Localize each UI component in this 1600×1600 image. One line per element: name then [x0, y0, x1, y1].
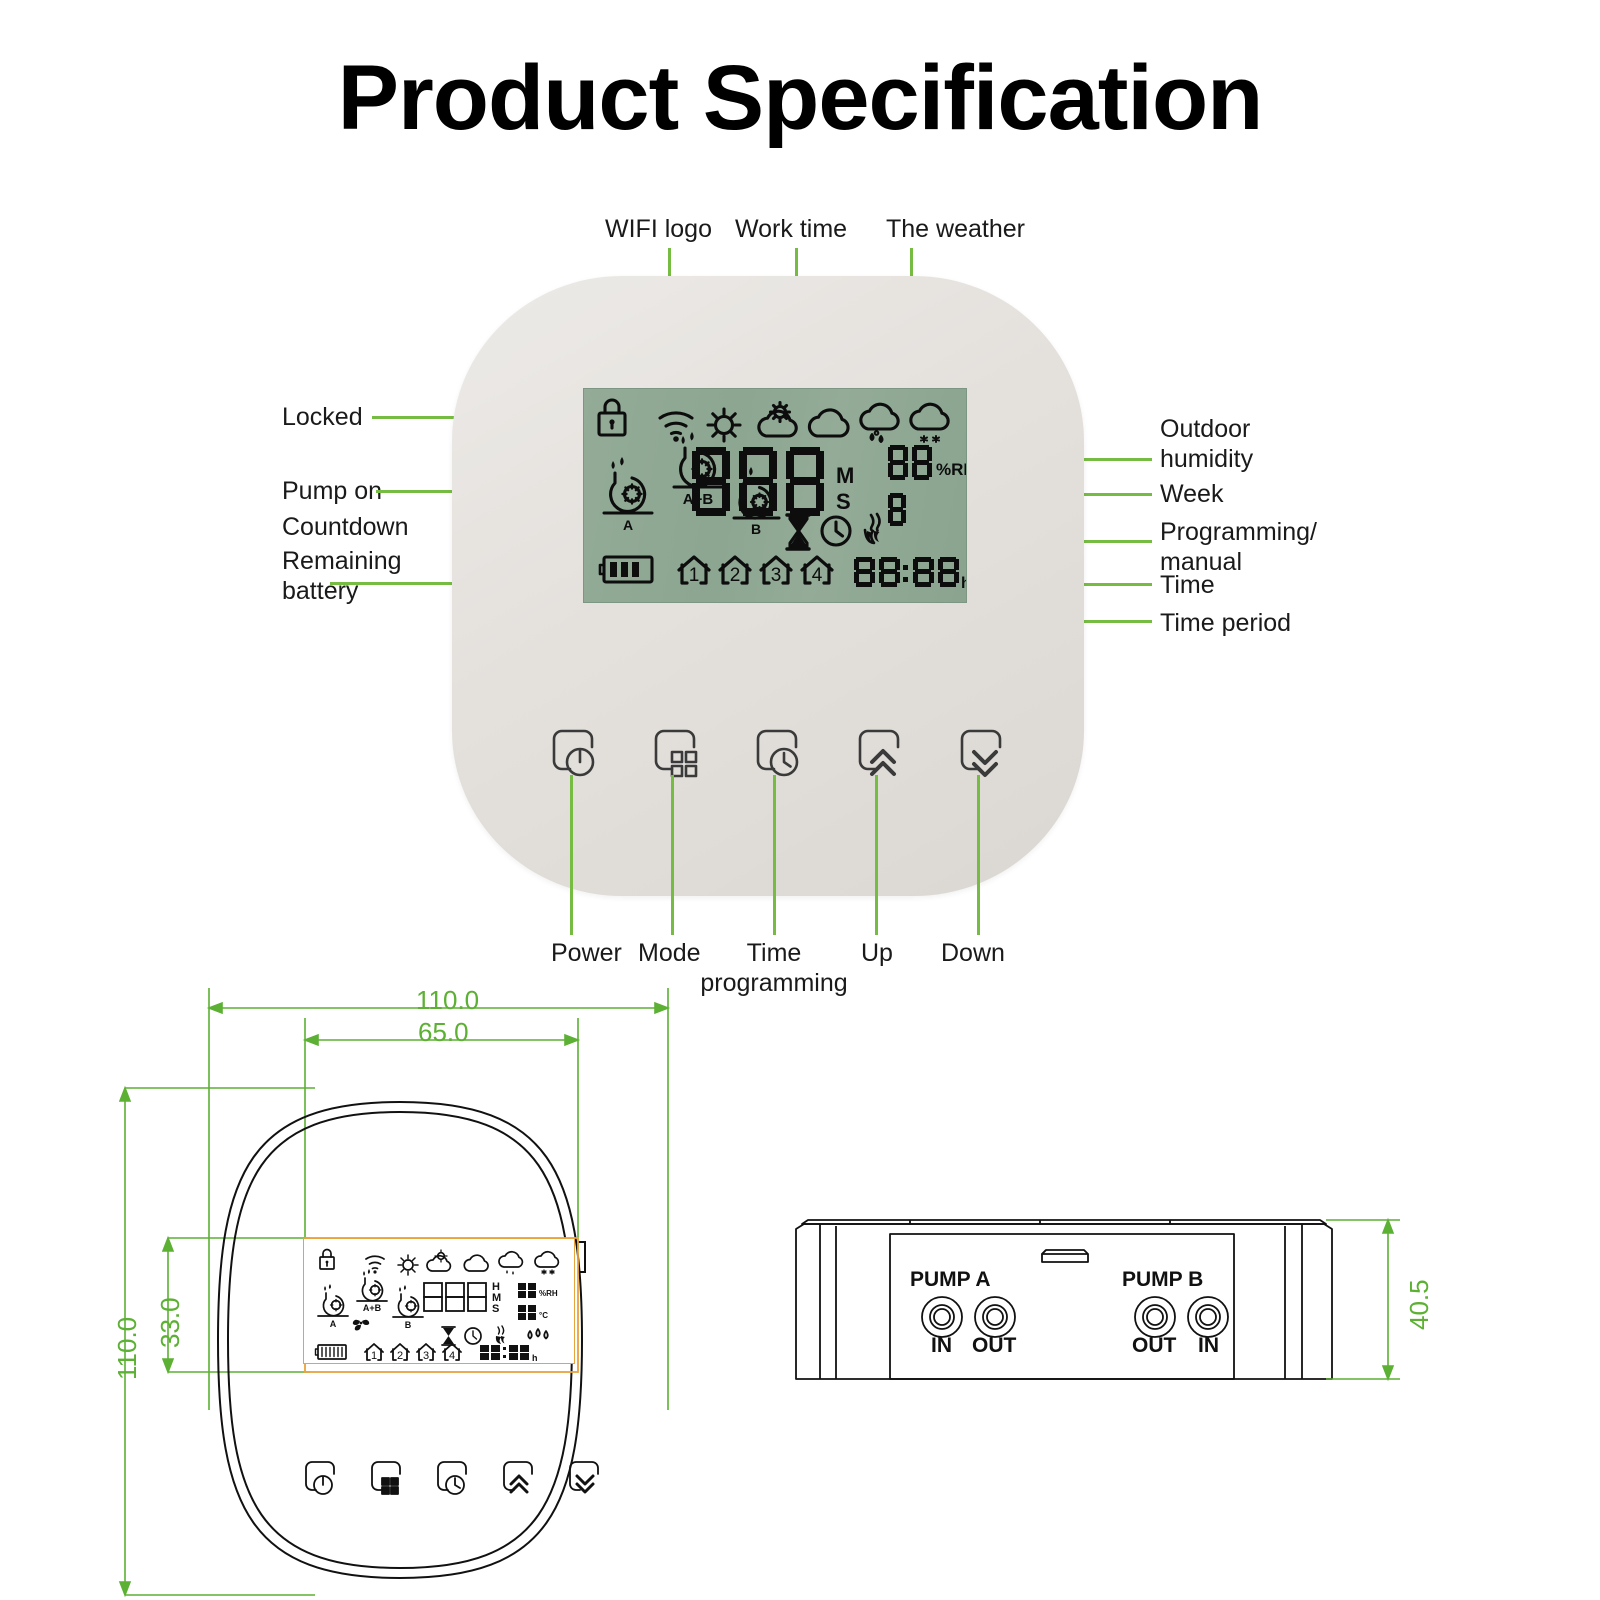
callout-countdown: Countdown: [282, 512, 408, 542]
drawing-up-button: [504, 1462, 532, 1492]
callout-time: Time: [1160, 570, 1215, 600]
house-4-number: 4: [812, 565, 823, 586]
mini-temp-digits: [518, 1305, 536, 1320]
up-button[interactable]: [860, 731, 898, 774]
dim-side-height: 40.5: [1404, 1279, 1435, 1330]
callout-work-time: Work time: [735, 214, 847, 244]
mini-rain-icon: [499, 1252, 522, 1275]
svg-text:B: B: [405, 1320, 412, 1330]
mini-temp-unit: °C: [539, 1311, 548, 1320]
unit-minutes: M: [836, 463, 854, 488]
flame-icon: [865, 514, 880, 543]
svg-text:2: 2: [397, 1350, 403, 1362]
dim-lcd-height: 33.0: [155, 1297, 186, 1348]
page-title: Product Specification: [0, 46, 1600, 151]
mini-fan-icon: [353, 1320, 369, 1331]
callout-programming-manual: Programming/ manual: [1160, 517, 1317, 577]
button-label-down: Down: [941, 938, 1005, 968]
mini-sun-cloud-icon: [427, 1250, 450, 1271]
dim-front-height: 110.0: [112, 1317, 143, 1380]
pump-a-icon: [604, 457, 652, 513]
mini-cloud-icon: [464, 1255, 488, 1271]
button-row: [520, 714, 1020, 794]
pump-b-label: B: [751, 521, 761, 537]
house-3-number: 3: [771, 565, 782, 586]
mini-humidity-unit: %RH: [539, 1289, 558, 1298]
mini-time-digits: [480, 1345, 529, 1360]
pump-b-right-label: IN: [1198, 1334, 1219, 1358]
mini-flame-icon: [496, 1326, 505, 1344]
svg-text:A+B: A+B: [363, 1303, 382, 1313]
pump-a-ports: [922, 1297, 1015, 1337]
drawing-time-button: [438, 1462, 466, 1494]
mini-waterdrops-icon: [528, 1329, 548, 1339]
leader-up: [875, 775, 878, 935]
svg-text:1: 1: [371, 1350, 377, 1362]
clock-icon: [822, 517, 850, 545]
mini-lock-icon: [320, 1250, 334, 1270]
svg-text:A: A: [330, 1319, 337, 1329]
callout-locked: Locked: [282, 402, 363, 432]
dim-lcd-width: 65.0: [418, 1017, 469, 1048]
mini-snow-icon: [535, 1252, 558, 1274]
snow-icon: [911, 404, 948, 442]
button-label-up: Up: [861, 938, 893, 968]
mini-pump-ab-icon: [357, 1269, 387, 1301]
pump-a-right-label: OUT: [972, 1334, 1016, 1358]
sun-icon: [708, 409, 740, 441]
pump-a-title: PUMP A: [910, 1268, 991, 1292]
leader-power: [570, 775, 573, 935]
mini-hourglass-icon: [442, 1327, 455, 1345]
button-label-mode: Mode: [638, 938, 701, 968]
dim-front-width: 110.0: [416, 985, 479, 1016]
house-2-number: 2: [730, 565, 741, 586]
chevron-up-icon: [872, 751, 894, 774]
mini-pump-b-icon: [393, 1285, 423, 1317]
drawing-down-button: [570, 1462, 598, 1492]
hourglass-icon: [787, 515, 809, 549]
cloud-icon: [809, 410, 848, 436]
callout-remaining-battery: Remaining battery: [282, 546, 402, 606]
button-label-time-programming: Time programming: [694, 938, 854, 998]
lcd-mini-screen: A A+B B: [303, 1238, 575, 1364]
battery-icon: [600, 557, 652, 582]
pump-b-ports: [1135, 1297, 1228, 1337]
leader-mode: [671, 775, 674, 935]
unit-seconds: S: [836, 489, 851, 514]
leader-time-prog: [773, 775, 776, 935]
svg-text:3: 3: [423, 1350, 429, 1362]
wifi-icon: [660, 413, 692, 442]
power-button[interactable]: [554, 731, 593, 775]
pump-b-left-label: OUT: [1132, 1334, 1176, 1358]
callout-the-weather: The weather: [886, 214, 1025, 244]
svg-text:4: 4: [449, 1350, 455, 1362]
mini-time-unit: h: [532, 1353, 538, 1363]
mode-button[interactable]: [656, 731, 696, 776]
callout-wifi-logo: WIFI logo: [605, 214, 712, 244]
callout-time-period: Time period: [1160, 608, 1291, 638]
callout-week: Week: [1160, 479, 1223, 509]
pump-a-label: A: [623, 517, 633, 533]
rain-icon: [861, 404, 898, 442]
mini-battery-icon: [316, 1345, 347, 1359]
port-view-drawing: [790, 1190, 1470, 1410]
drawing-mode-button: [372, 1462, 400, 1494]
callout-pump-on: Pump on: [282, 476, 382, 506]
time-digits: [854, 557, 959, 587]
house-1-number: 1: [689, 565, 700, 586]
callout-outdoor-humidity: Outdoor humidity: [1160, 414, 1253, 474]
mini-humidity-digits: [518, 1283, 536, 1298]
mini-main-digits: [424, 1283, 486, 1311]
mini-pump-a-icon: [318, 1284, 348, 1316]
pump-b-title: PUMP B: [1122, 1268, 1203, 1292]
mini-clock-icon: [465, 1328, 481, 1344]
time-unit: h: [961, 575, 967, 592]
humidity-digits: [888, 445, 932, 480]
mini-unit-s: S: [492, 1303, 499, 1315]
humidity-unit: %RH: [936, 460, 967, 479]
button-label-power: Power: [551, 938, 622, 968]
lock-icon: [599, 400, 625, 435]
sun-cloud-icon: [759, 403, 796, 437]
time-programming-button[interactable]: [758, 731, 797, 775]
grid-icon: [672, 752, 696, 776]
drawing-power-button: [306, 1462, 334, 1494]
chevron-down-icon: [974, 752, 996, 775]
leader-down: [977, 775, 980, 935]
week-digit: [888, 493, 906, 526]
down-button[interactable]: [962, 731, 1000, 775]
lcd-screen: A A+B: [583, 388, 967, 603]
mini-sun-icon: [398, 1255, 418, 1275]
pump-a-left-label: IN: [931, 1334, 952, 1358]
